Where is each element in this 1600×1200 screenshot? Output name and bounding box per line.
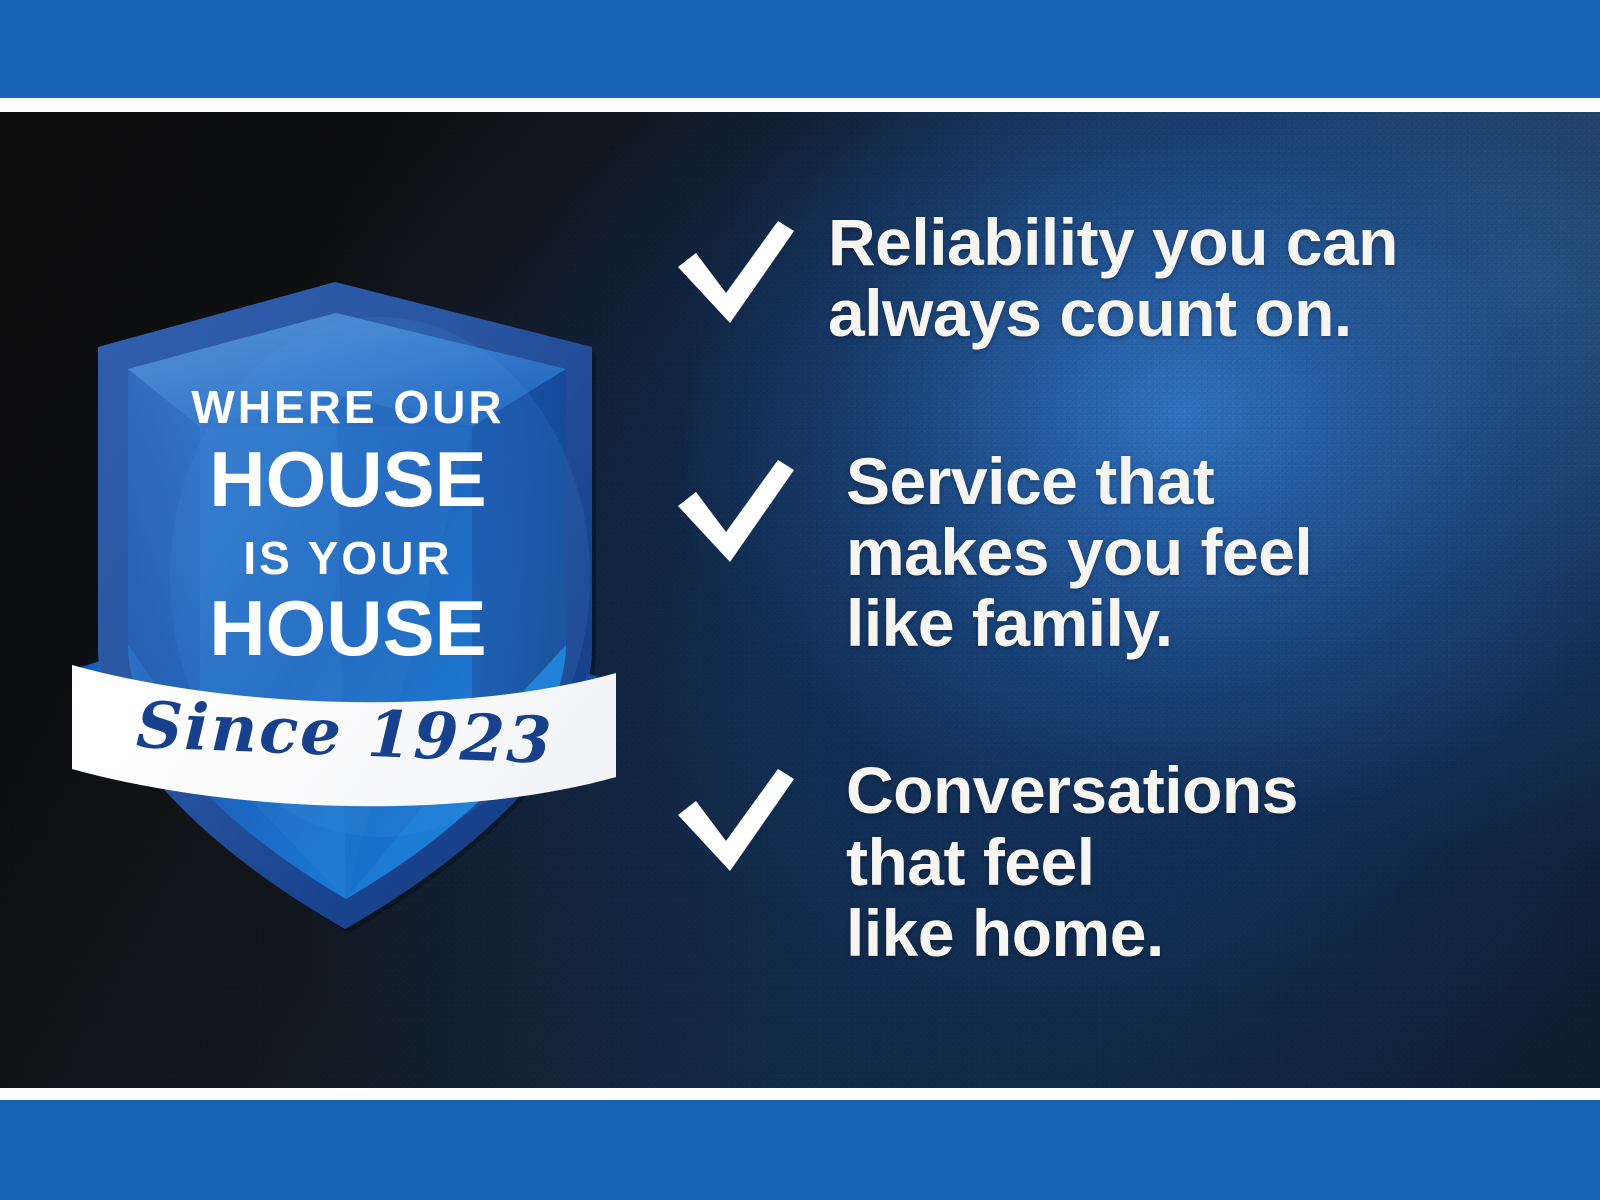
list-item: Reliability you can always count on. [670,207,1540,350]
promo-graphic: WHERE OUR HOUSE IS YOUR HOUSE Since 1923 [0,0,1600,1200]
shield-badge: WHERE OUR HOUSE IS YOUR HOUSE Since 1923 [80,277,610,937]
badge-line-1: WHERE OUR [191,381,504,433]
main-stage: WHERE OUR HOUSE IS YOUR HOUSE Since 1923 [0,112,1600,1088]
benefits-list: Reliability you can always count on. Ser… [670,207,1540,969]
list-item-text: Conversations that feel like home. [846,755,1540,969]
ribbon-since-text: Since 1923 [135,688,555,779]
top-divider [0,98,1600,112]
checkmark-icon [670,755,820,879]
badge-line-4: HOUSE [209,584,486,672]
badge-line-2: HOUSE [209,435,486,523]
bottom-divider [0,1088,1600,1100]
checkmark-icon [670,207,820,331]
list-item-text: Service that makes you feel like family. [846,446,1540,660]
top-brand-bar [0,0,1600,98]
checkmark-icon [670,446,820,570]
list-item: Service that makes you feel like family. [670,446,1540,660]
badge-line-3: IS YOUR [243,532,452,584]
bottom-brand-bar [0,1100,1600,1200]
list-item-text: Reliability you can always count on. [828,207,1540,350]
list-item: Conversations that feel like home. [670,755,1540,969]
